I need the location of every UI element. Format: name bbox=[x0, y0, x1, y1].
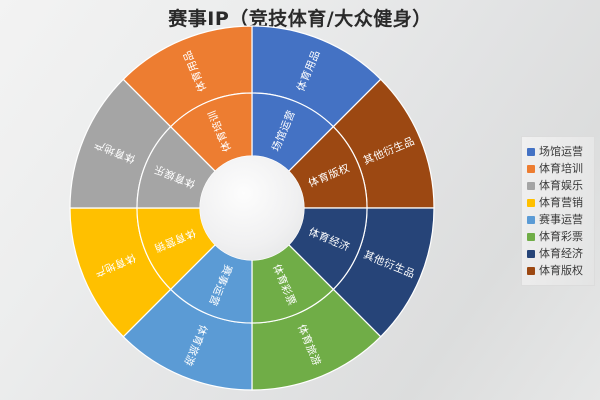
legend-swatch-icon bbox=[527, 216, 535, 224]
legend-item-label: 场馆运营 bbox=[539, 146, 583, 157]
legend-swatch-icon bbox=[527, 182, 535, 190]
legend-item[interactable]: 体育经济 bbox=[527, 246, 590, 261]
legend-item-label: 体育经济 bbox=[539, 248, 583, 259]
legend-item[interactable]: 体育培训 bbox=[527, 161, 590, 176]
legend-swatch-icon bbox=[527, 199, 535, 207]
legend-item-label: 体育娱乐 bbox=[539, 180, 583, 191]
legend-swatch-icon bbox=[527, 250, 535, 258]
legend-swatch-icon bbox=[527, 165, 535, 173]
legend-item[interactable]: 赛事运营 bbox=[527, 212, 590, 227]
legend-item[interactable]: 体育版权 bbox=[527, 263, 590, 278]
legend-item[interactable]: 体育娱乐 bbox=[527, 178, 590, 193]
sunburst-svg: 体育用品其他衍生品其他衍生品体育旅游体育旅游体育地产体育地产体育用品 场馆运营体… bbox=[0, 0, 600, 400]
legend-swatch-icon bbox=[527, 267, 535, 275]
legend-item-label: 体育培训 bbox=[539, 163, 583, 174]
legend-item[interactable]: 体育营销 bbox=[527, 195, 590, 210]
legend-item[interactable]: 体育彩票 bbox=[527, 229, 590, 244]
legend-item-label: 体育版权 bbox=[539, 265, 583, 276]
chart-legend: 场馆运营体育培训体育娱乐体育营销赛事运营体育彩票体育经济体育版权 bbox=[521, 136, 595, 286]
legend-swatch-icon bbox=[527, 233, 535, 241]
legend-item[interactable]: 场馆运营 bbox=[527, 144, 590, 159]
legend-swatch-icon bbox=[527, 148, 535, 156]
sunburst-chart-canvas: 赛事IP（竞技体育/大众健身） 体育用品其他衍生品其他衍生品体育旅游体育旅游体育… bbox=[0, 0, 600, 400]
legend-item-label: 体育营销 bbox=[539, 197, 583, 208]
legend-item-label: 赛事运营 bbox=[539, 214, 583, 225]
legend-item-label: 体育彩票 bbox=[539, 231, 583, 242]
donut-center-hole bbox=[200, 156, 304, 260]
